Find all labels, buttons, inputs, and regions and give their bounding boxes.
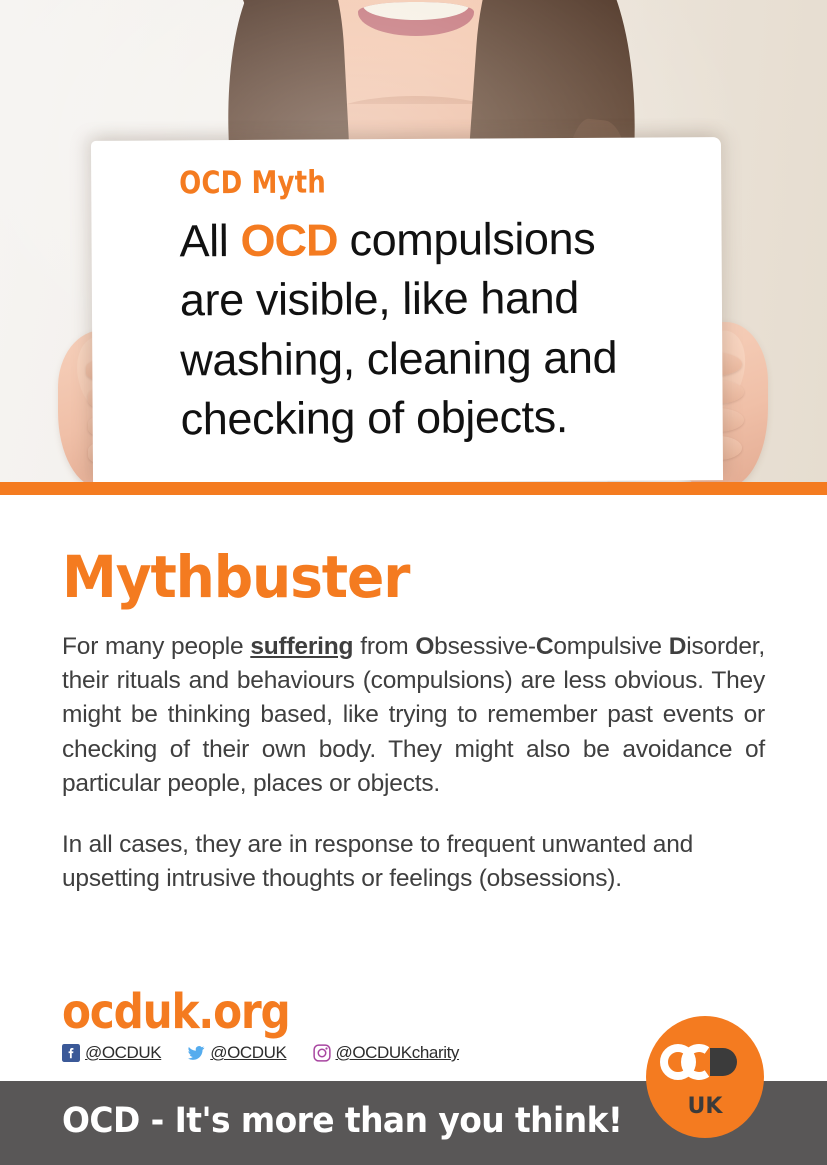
instagram-handle: @OCDUKcharity [336,1043,460,1063]
logo-sub-uk: UK [688,1094,724,1119]
ocd-uk-mythbuster-poster: OCD Myth All OCD compulsions are visible… [0,0,827,1165]
orange-divider-bar [0,482,827,495]
hero-photo: OCD Myth All OCD compulsions are visible… [0,0,827,482]
sign-kicker-ocd-myth: OCD Myth [179,165,659,199]
mythbuster-heading: Mythbuster [62,495,730,606]
para1-part3: bsessive- [434,633,536,660]
para1-emphasis-suffering: suffering [250,633,353,660]
facebook-handle: @OCDUK [85,1043,161,1063]
social-links: @OCDUK @OCDUK @OCDUKcharity [62,1043,459,1063]
para1-part2: from [353,633,415,660]
sign-content: OCD Myth All OCD compulsions are visible… [91,137,723,482]
twitter-icon [187,1044,205,1062]
sign-headline: All OCD compulsions are visible, like ha… [179,208,696,449]
para1-bold-c: C [536,633,554,660]
para1-bold-d: D [669,633,687,660]
social-link-instagram[interactable]: @OCDUKcharity [313,1043,460,1063]
ocd-uk-logo[interactable]: UK [646,1016,764,1138]
held-sign-board: OCD Myth All OCD compulsions are visible… [91,137,723,482]
sign-headline-before: All [179,215,240,266]
website-url[interactable]: ocduk.org [62,988,290,1036]
social-link-twitter[interactable]: @OCDUK [187,1043,286,1063]
mythbuster-paragraph-1: For many people suffering from Obsessive… [62,630,765,801]
instagram-icon [313,1044,331,1062]
social-link-facebook[interactable]: @OCDUK [62,1043,161,1063]
para1-part4: ompulsive [553,633,668,660]
twitter-handle: @OCDUK [210,1043,286,1063]
para1-bold-o: O [415,633,434,660]
para1-part1: For many people [62,633,250,660]
tagline-text: OCD - It's more than you think! [62,1102,622,1141]
mythbuster-paragraph-2: In all cases, they are in response to fr… [62,828,765,896]
sign-headline-highlight: OCD [240,214,337,266]
facebook-icon [62,1044,80,1062]
